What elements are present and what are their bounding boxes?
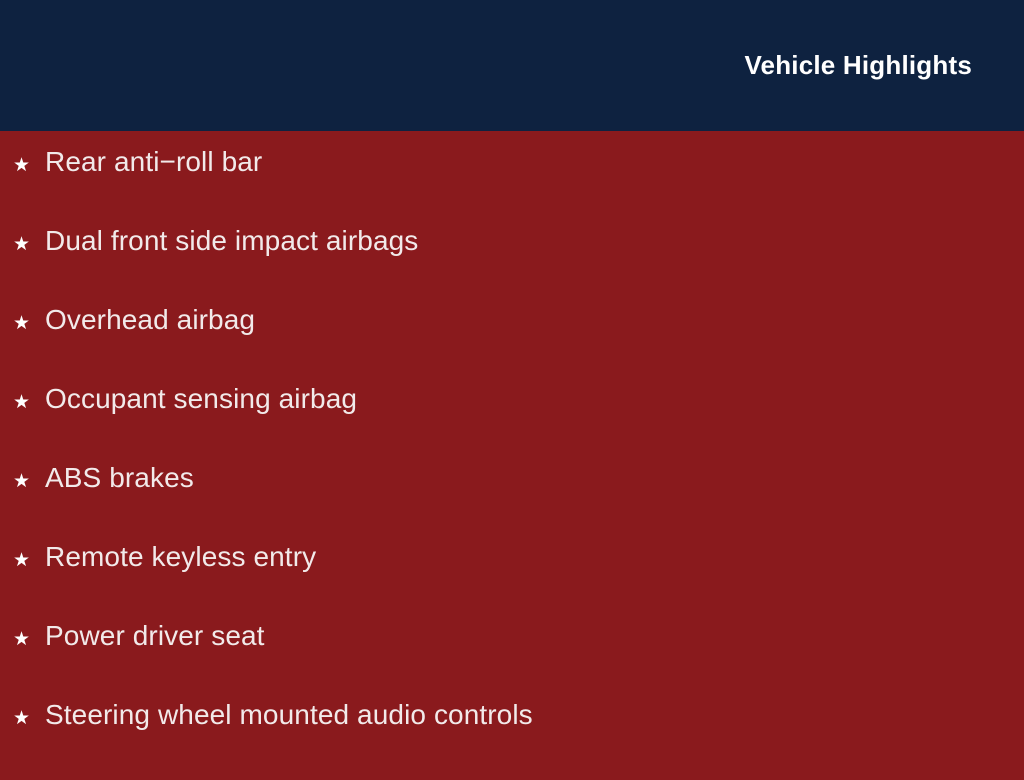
slide-header-band: Vehicle Highlights [0, 0, 1024, 131]
vehicle-highlights-list: ★ Rear anti−roll bar ★ Dual front side i… [0, 148, 1024, 780]
list-item: ★ Dual front side impact airbags [0, 227, 1024, 306]
star-bullet-icon: ★ [13, 235, 45, 254]
list-item-label: Occupant sensing airbag [45, 385, 357, 413]
list-item-label: Remote keyless entry [45, 543, 316, 571]
star-bullet-icon: ★ [13, 709, 45, 728]
star-bullet-icon: ★ [13, 472, 45, 491]
list-item-label: Overhead airbag [45, 306, 255, 334]
list-item: ★ Power driver seat [0, 622, 1024, 701]
list-item: ★ ABS brakes [0, 464, 1024, 543]
slide-body: ★ Rear anti−roll bar ★ Dual front side i… [0, 131, 1024, 768]
list-item-label: Rear anti−roll bar [45, 148, 262, 176]
star-bullet-icon: ★ [13, 630, 45, 649]
star-bullet-icon: ★ [13, 314, 45, 333]
list-item: ★ Remote keyless entry [0, 543, 1024, 622]
list-item-label: ABS brakes [45, 464, 194, 492]
list-item: ★ Steering wheel mounted audio controls [0, 701, 1024, 780]
list-item: ★ Occupant sensing airbag [0, 385, 1024, 464]
star-bullet-icon: ★ [13, 551, 45, 570]
vehicle-highlights-slide: Vehicle Highlights ★ Rear anti−roll bar … [0, 0, 1024, 768]
list-item-label: Steering wheel mounted audio controls [45, 701, 533, 729]
star-bullet-icon: ★ [13, 156, 45, 175]
list-item: ★ Overhead airbag [0, 306, 1024, 385]
list-item-label: Dual front side impact airbags [45, 227, 418, 255]
list-item-label: Power driver seat [45, 622, 265, 650]
list-item: ★ Rear anti−roll bar [0, 148, 1024, 227]
page-title: Vehicle Highlights [744, 51, 972, 80]
star-bullet-icon: ★ [13, 393, 45, 412]
